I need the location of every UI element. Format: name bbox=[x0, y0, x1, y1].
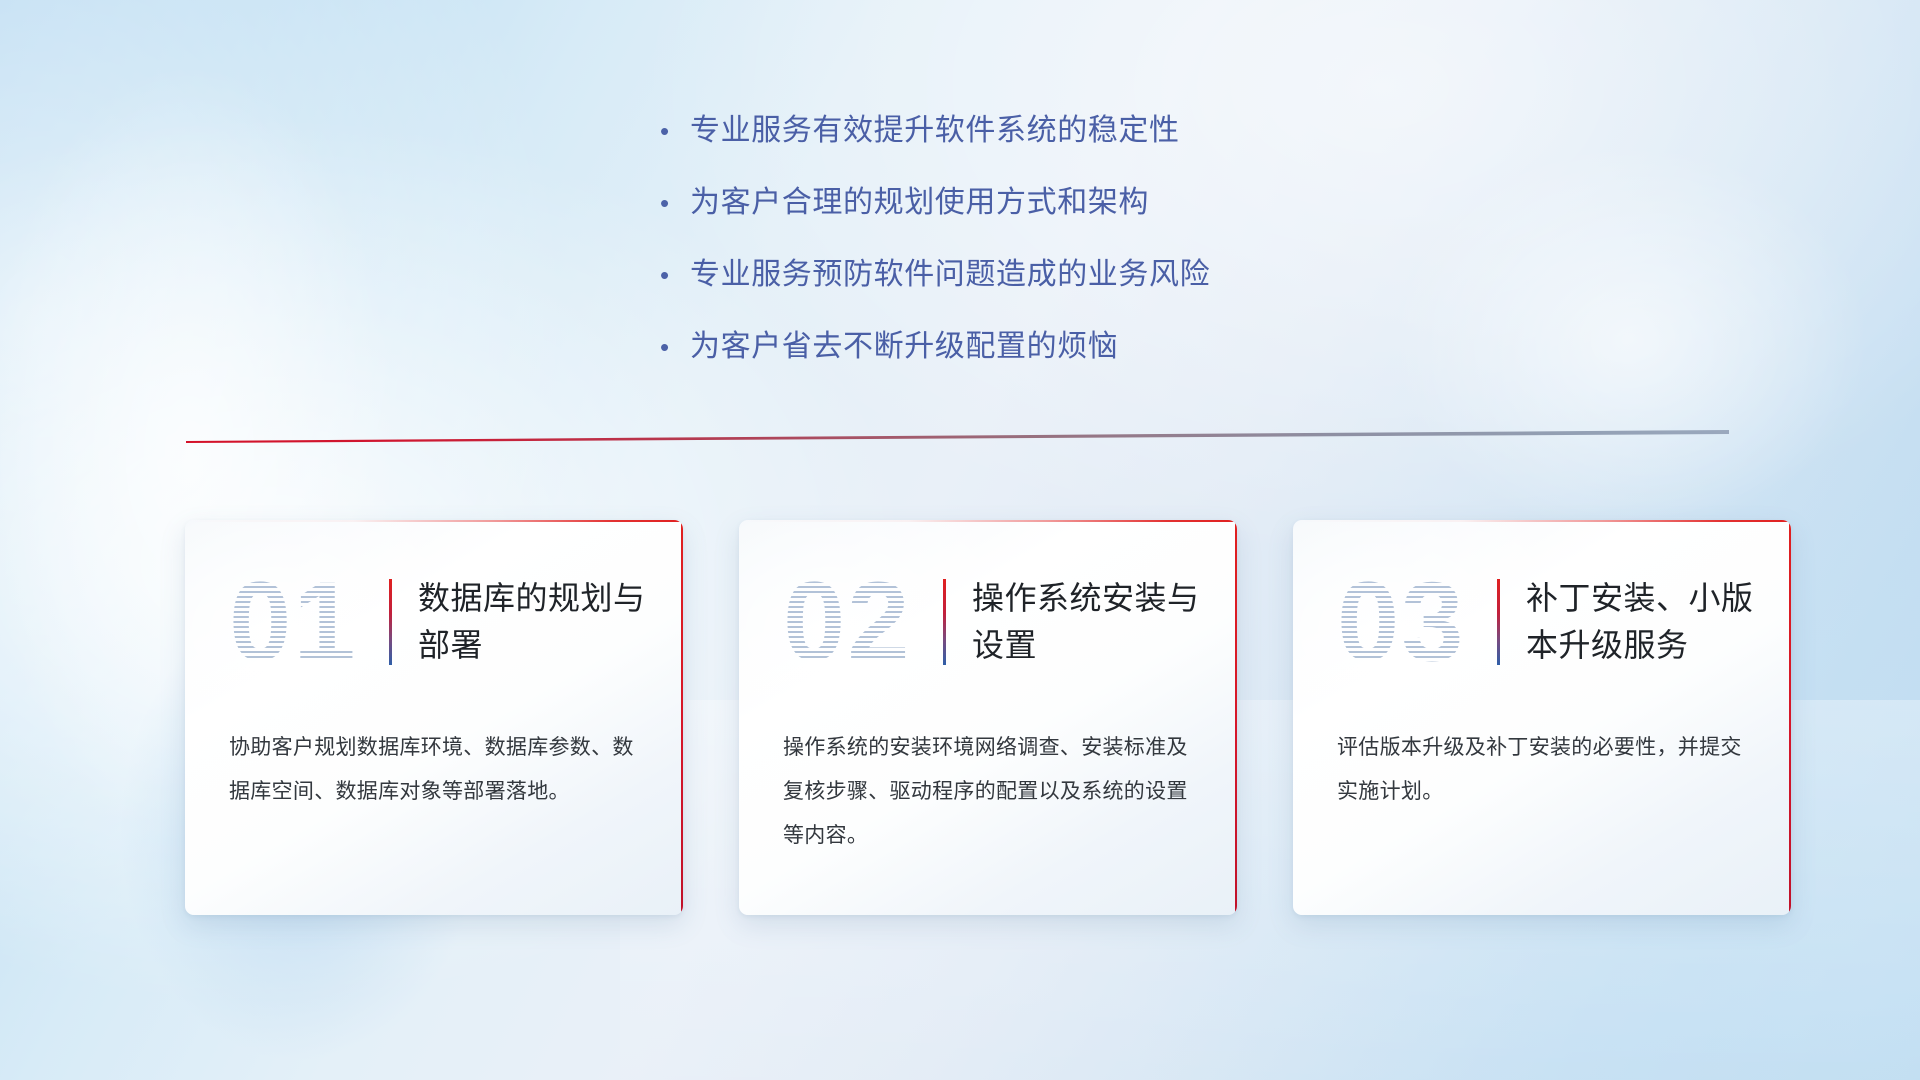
card-number: 03 bbox=[1337, 566, 1487, 678]
list-item: • 为客户合理的规划使用方式和架构 bbox=[660, 182, 1420, 224]
card-divider-bar bbox=[1497, 579, 1500, 665]
bullet-text: 专业服务有效提升软件系统的稳定性 bbox=[690, 110, 1180, 152]
divider-shape-icon bbox=[186, 430, 1729, 443]
service-card-list: 01 数据库的规划与部署 协助客户规划数据库环境、数据库参数、数据库空间、数据库… bbox=[185, 520, 1795, 915]
slide-canvas: • 专业服务有效提升软件系统的稳定性 • 为客户合理的规划使用方式和架构 • 专… bbox=[0, 0, 1920, 1080]
card-divider-bar bbox=[943, 579, 946, 665]
bullet-dot-icon: • bbox=[660, 110, 690, 152]
list-item: • 为客户省去不断升级配置的烦恼 bbox=[660, 326, 1420, 368]
bullet-dot-icon: • bbox=[660, 254, 690, 296]
benefits-bullet-list: • 专业服务有效提升软件系统的稳定性 • 为客户合理的规划使用方式和架构 • 专… bbox=[660, 110, 1420, 398]
bullet-text: 专业服务预防软件问题造成的业务风险 bbox=[690, 254, 1210, 296]
card-body-text: 协助客户规划数据库环境、数据库参数、数据库空间、数据库对象等部署落地。 bbox=[185, 680, 683, 814]
bullet-text: 为客户合理的规划使用方式和架构 bbox=[690, 182, 1149, 224]
card-title: 补丁安装、小版本升级服务 bbox=[1526, 575, 1776, 669]
card-header: 02 操作系统安装与设置 bbox=[739, 520, 1237, 680]
bullet-text: 为客户省去不断升级配置的烦恼 bbox=[690, 326, 1118, 368]
service-card[interactable]: 03 补丁安装、小版本升级服务 评估版本升级及补丁安装的必要性，并提交实施计划。 bbox=[1293, 520, 1791, 915]
service-card[interactable]: 02 操作系统安装与设置 操作系统的安装环境网络调查、安装标准及复核步骤、驱动程… bbox=[739, 520, 1237, 915]
card-divider-bar bbox=[389, 579, 392, 665]
card-title: 数据库的规划与部署 bbox=[418, 575, 668, 669]
list-item: • 专业服务预防软件问题造成的业务风险 bbox=[660, 254, 1420, 296]
card-number: 01 bbox=[229, 566, 379, 678]
card-header: 01 数据库的规划与部署 bbox=[185, 520, 683, 680]
card-body-text: 评估版本升级及补丁安装的必要性，并提交实施计划。 bbox=[1293, 680, 1791, 814]
service-card[interactable]: 01 数据库的规划与部署 协助客户规划数据库环境、数据库参数、数据库空间、数据库… bbox=[185, 520, 683, 915]
section-divider bbox=[186, 430, 1729, 443]
card-body-text: 操作系统的安装环境网络调查、安装标准及复核步骤、驱动程序的配置以及系统的设置等内… bbox=[739, 680, 1237, 858]
card-header: 03 补丁安装、小版本升级服务 bbox=[1293, 520, 1791, 680]
bullet-dot-icon: • bbox=[660, 326, 690, 368]
bullet-dot-icon: • bbox=[660, 182, 690, 224]
card-title: 操作系统安装与设置 bbox=[972, 575, 1222, 669]
list-item: • 专业服务有效提升软件系统的稳定性 bbox=[660, 110, 1420, 152]
card-number: 02 bbox=[783, 566, 933, 678]
